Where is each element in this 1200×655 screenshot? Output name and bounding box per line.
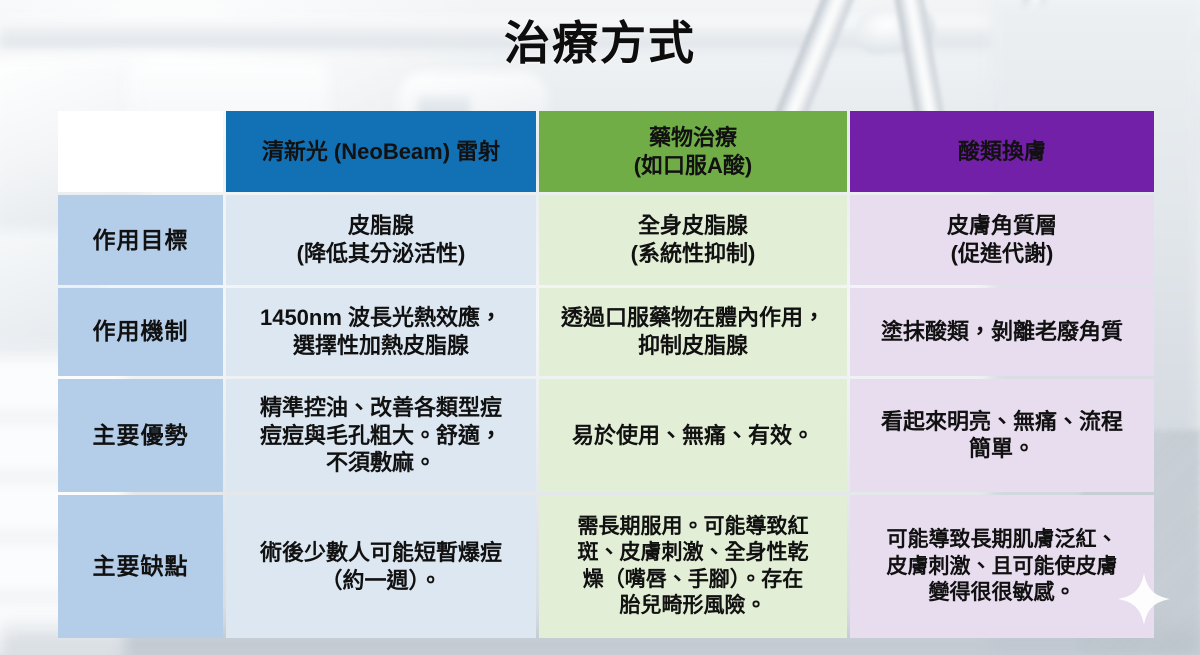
header-cell-oral-medication: 藥物治療 (如口服A酸) xyxy=(539,111,847,192)
row-label-disadvantages: 主要缺點 xyxy=(58,495,223,638)
table-row: 作用目標 皮脂腺 (降低其分泌活性) 全身皮脂腺 (系統性抑制) 皮膚角質層 (… xyxy=(58,195,1154,285)
treatment-comparison-table: 清新光 (NeoBeam) 雷射 藥物治療 (如口服A酸) 酸類換膚 作用目標 … xyxy=(55,108,1157,641)
cell-line: 燥（嘴唇、手腳）。存在 xyxy=(549,567,837,593)
header-label-neobeam-laser: 清新光 (NeoBeam) 雷射 xyxy=(262,139,500,164)
cell-line: 變得很很敏感。 xyxy=(860,580,1144,606)
header-blank-cell xyxy=(58,111,223,192)
cell-mechanism-peel: 塗抹酸類，剝離老廢角質 xyxy=(850,288,1154,376)
cell-line: 塗抹酸類，剝離老廢角質 xyxy=(860,318,1144,346)
cell-disadvantages-medication: 需長期服用。可能導致紅 斑、皮膚刺激、全身性乾 燥（嘴唇、手腳）。存在 胎兒畸形… xyxy=(539,495,847,638)
header-label-chemical-peel: 酸類換膚 xyxy=(958,139,1046,164)
page-title: 治療方式 xyxy=(0,18,1200,69)
cell-advantages-peel: 看起來明亮、無痛、流程 簡單。 xyxy=(850,379,1154,493)
cell-advantages-medication: 易於使用、無痛、有效。 xyxy=(539,379,847,493)
cell-line: 皮脂腺 xyxy=(236,212,526,240)
cell-disadvantages-peel: 可能導致長期肌膚泛紅、 皮膚刺激、且可能使皮膚 變得很很敏感。 xyxy=(850,495,1154,638)
row-label-advantages: 主要優勢 xyxy=(58,379,223,493)
table-header-row: 清新光 (NeoBeam) 雷射 藥物治療 (如口服A酸) 酸類換膚 xyxy=(58,111,1154,192)
cell-disadvantages-neobeam: 術後少數人可能短暫爆痘 （約一週）。 xyxy=(226,495,536,638)
cell-target-peel: 皮膚角質層 (促進代謝) xyxy=(850,195,1154,285)
row-label-target: 作用目標 xyxy=(58,195,223,285)
cell-line: 可能導致長期肌膚泛紅、 xyxy=(860,527,1144,553)
cell-line: 易於使用、無痛、有效。 xyxy=(549,422,837,450)
cell-mechanism-medication: 透過口服藥物在體內作用， 抑制皮脂腺 xyxy=(539,288,847,376)
cell-line: 不須敷麻。 xyxy=(236,449,526,477)
cell-line: 簡單。 xyxy=(860,435,1144,463)
header-cell-chemical-peel: 酸類換膚 xyxy=(850,111,1154,192)
cell-line: 抑制皮脂腺 xyxy=(549,332,837,360)
cell-line: （約一週）。 xyxy=(236,567,526,595)
cell-advantages-neobeam: 精準控油、改善各類型痘 痘痘與毛孔粗大。舒適， 不須敷麻。 xyxy=(226,379,536,493)
cell-line: 1450nm 波長光熱效應， xyxy=(236,304,526,332)
cell-mechanism-neobeam: 1450nm 波長光熱效應， 選擇性加熱皮脂腺 xyxy=(226,288,536,376)
cell-line: 需長期服用。可能導致紅 xyxy=(549,514,837,540)
comparison-table-wrapper: 清新光 (NeoBeam) 雷射 藥物治療 (如口服A酸) 酸類換膚 作用目標 … xyxy=(55,108,1145,641)
cell-line: 全身皮脂腺 xyxy=(549,212,837,240)
cell-line: 胎兒畸形風險。 xyxy=(549,593,837,619)
cell-line: 透過口服藥物在體內作用， xyxy=(549,304,837,332)
slide-root: 治療方式 清新光 (NeoBeam) 雷射 藥物治療 (如口服A酸 xyxy=(0,0,1200,655)
header-cell-neobeam-laser: 清新光 (NeoBeam) 雷射 xyxy=(226,111,536,192)
header-label-oral-medication-line1: 藥物治療 xyxy=(549,124,837,152)
cell-line: (促進代謝) xyxy=(860,240,1144,268)
cell-line: 皮膚刺激、且可能使皮膚 xyxy=(860,554,1144,580)
cell-line: 選擇性加熱皮脂腺 xyxy=(236,332,526,360)
cell-line: 痘痘與毛孔粗大。舒適， xyxy=(236,422,526,450)
cell-target-medication: 全身皮脂腺 (系統性抑制) xyxy=(539,195,847,285)
cell-target-neobeam: 皮脂腺 (降低其分泌活性) xyxy=(226,195,536,285)
cell-line: 術後少數人可能短暫爆痘 xyxy=(236,539,526,567)
cell-line: (系統性抑制) xyxy=(549,240,837,268)
table-row: 作用機制 1450nm 波長光熱效應， 選擇性加熱皮脂腺 透過口服藥物在體內作用… xyxy=(58,288,1154,376)
table-row: 主要缺點 術後少數人可能短暫爆痘 （約一週）。 需長期服用。可能導致紅 斑、皮膚… xyxy=(58,495,1154,638)
table-row: 主要優勢 精準控油、改善各類型痘 痘痘與毛孔粗大。舒適， 不須敷麻。 易於使用、… xyxy=(58,379,1154,493)
cell-line: 精準控油、改善各類型痘 xyxy=(236,394,526,422)
row-label-mechanism: 作用機制 xyxy=(58,288,223,376)
header-label-oral-medication-line2: (如口服A酸) xyxy=(549,152,837,180)
cell-line: 斑、皮膚刺激、全身性乾 xyxy=(549,540,837,566)
cell-line: 看起來明亮、無痛、流程 xyxy=(860,408,1144,436)
cell-line: 皮膚角質層 xyxy=(860,212,1144,240)
cell-line: (降低其分泌活性) xyxy=(236,240,526,268)
